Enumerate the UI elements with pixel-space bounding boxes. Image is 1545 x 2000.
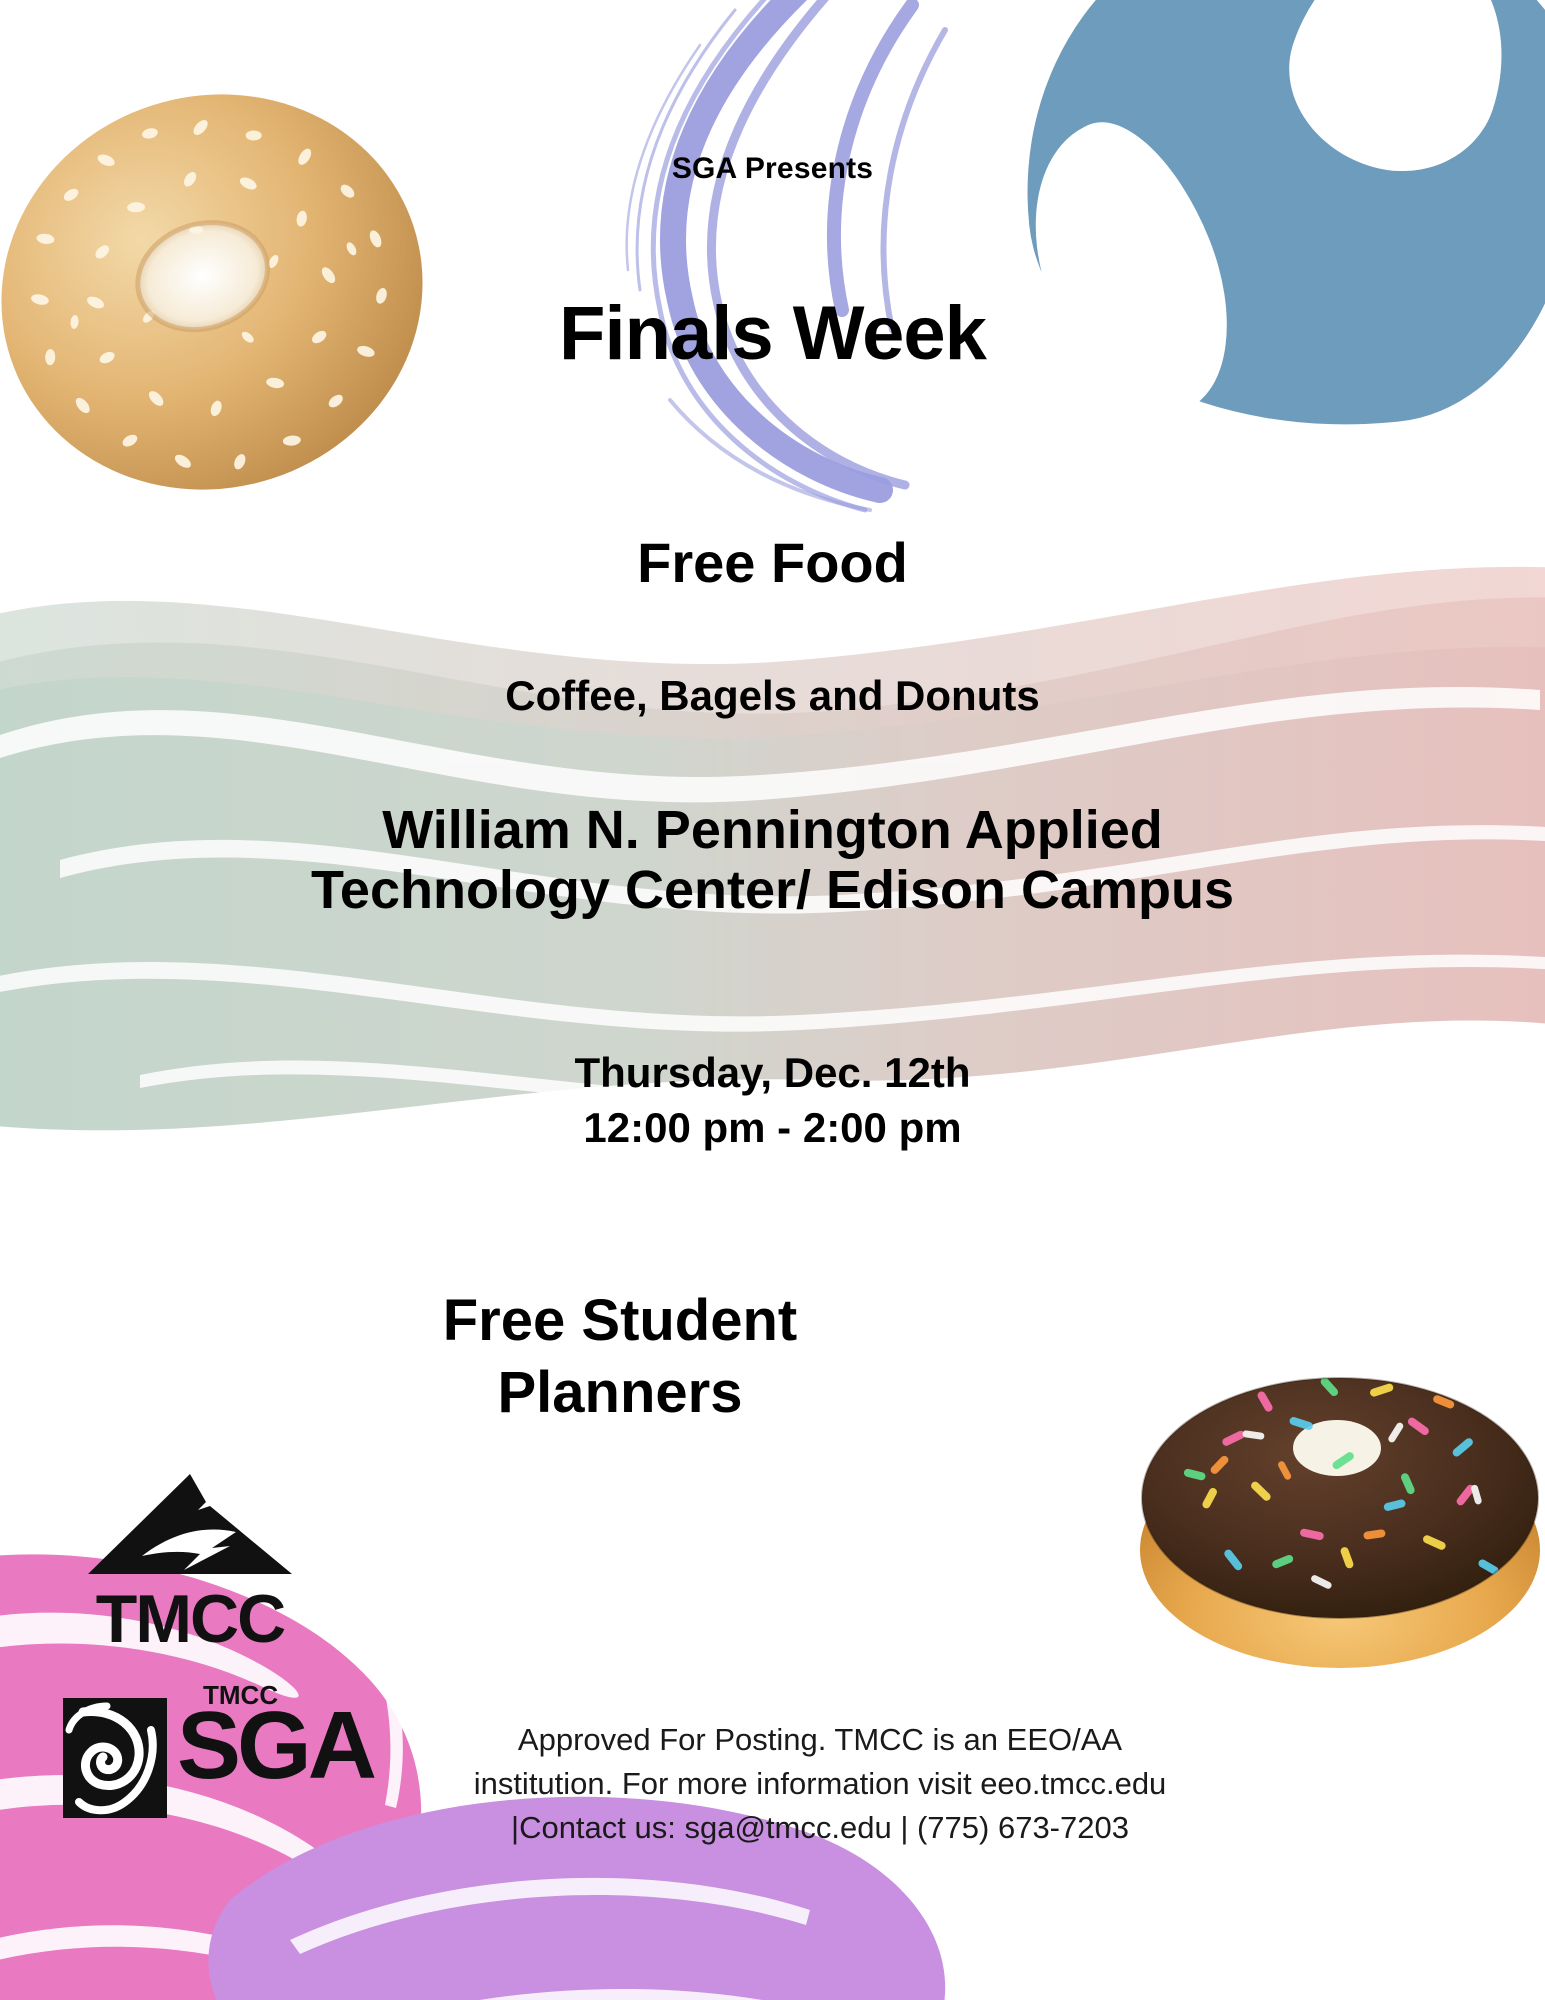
datetime-block: Thursday, Dec. 12th 12:00 pm - 2:00 pm [0, 1045, 1545, 1156]
sga-wordmark: SGA [177, 1698, 373, 1794]
venue-line-2: Technology Center/ Edison Campus [40, 860, 1505, 920]
subtitle-free-food: Free Food [0, 530, 1545, 595]
venue-block: William N. Pennington Applied Technology… [40, 800, 1505, 921]
planners-line-1: Free Student [300, 1285, 940, 1357]
footer-line-3: |Contact us: sga@tmcc.edu | (775) 673-72… [470, 1806, 1170, 1850]
tmcc-wordmark: TMCC [60, 1589, 320, 1650]
planners-line-2: Planners [300, 1357, 940, 1429]
presents-label: SGA Presents [0, 152, 1545, 186]
blue-blob-notch-secondary-decoration [995, 99, 1265, 441]
tmcc-logo: TMCC [60, 1470, 320, 1670]
page-title: Finals Week [0, 290, 1545, 377]
footer-disclaimer: Approved For Posting. TMCC is an EEO/AA … [470, 1718, 1170, 1850]
event-date: Thursday, Dec. 12th [0, 1045, 1545, 1100]
footer-line-1: Approved For Posting. TMCC is an EEO/AA [470, 1718, 1170, 1762]
sga-swirl-icon [55, 1694, 175, 1824]
event-time: 12:00 pm - 2:00 pm [0, 1100, 1545, 1155]
food-items-line: Coffee, Bagels and Donuts [0, 672, 1545, 720]
chocolate-sprinkle-donut-photo [1125, 1320, 1545, 1680]
sga-logo: TMCC SGA [55, 1680, 385, 1840]
tmcc-mountain-icon [80, 1470, 300, 1580]
venue-line-1: William N. Pennington Applied [40, 800, 1505, 860]
free-planners-block: Free Student Planners [300, 1285, 940, 1429]
blue-blob-decoration [999, 0, 1545, 458]
poster-canvas: SGA Presents Finals Week Free Food Coffe… [0, 0, 1545, 2000]
lavender-swirl-decoration [520, 0, 980, 530]
footer-line-2: institution. For more information visit … [470, 1762, 1170, 1806]
